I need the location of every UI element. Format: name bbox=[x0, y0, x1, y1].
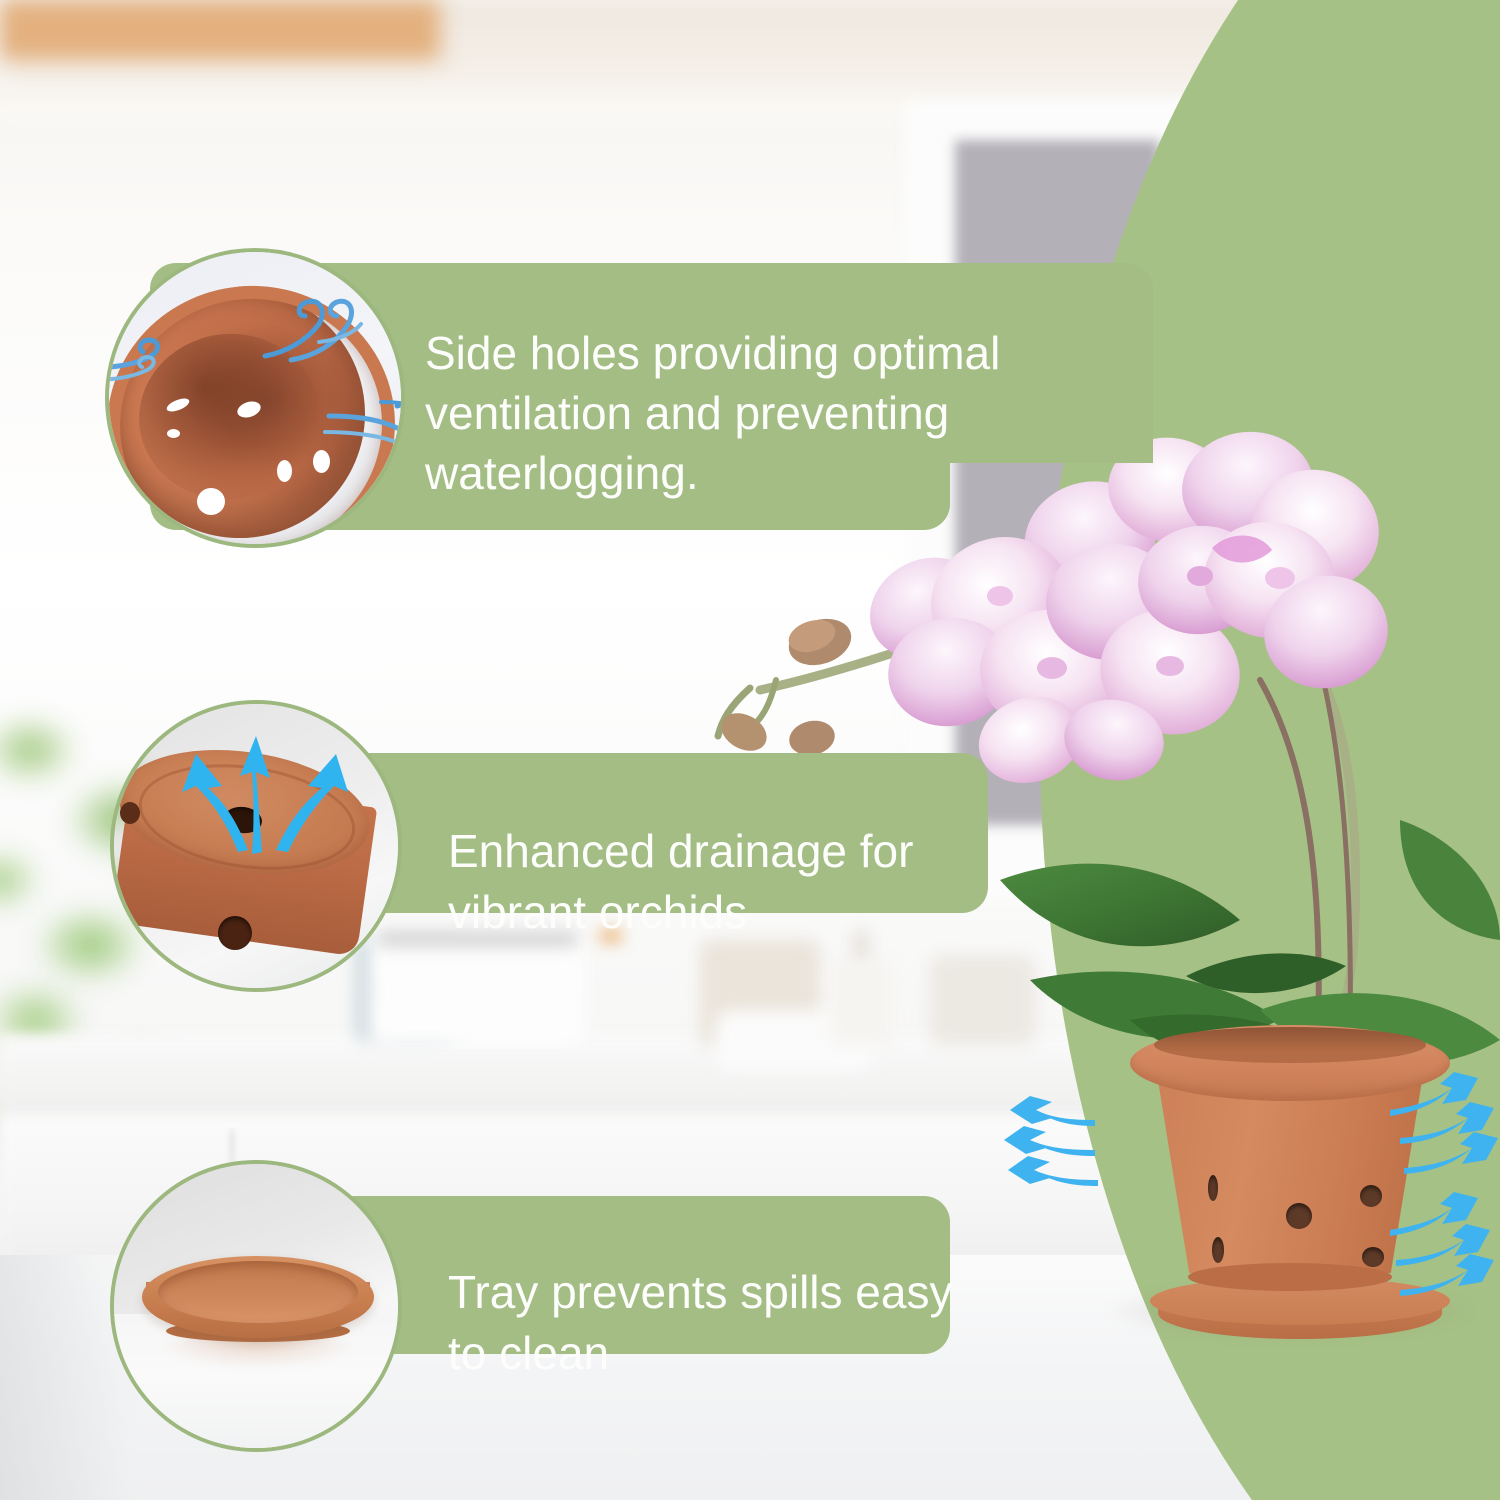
side-hole bbox=[218, 916, 252, 950]
wood-board bbox=[0, 0, 440, 60]
side-hole bbox=[197, 488, 225, 515]
side-hole bbox=[167, 429, 180, 438]
air-swirl-icon bbox=[105, 334, 205, 396]
side-hole bbox=[277, 460, 292, 482]
air-swirl-icon bbox=[261, 294, 379, 366]
callout-circle-tray bbox=[110, 1160, 402, 1452]
side-hole bbox=[120, 802, 140, 824]
infographic-canvas: Side holes providing optimal ventilation… bbox=[0, 0, 1500, 1500]
callout-circle-ventilation bbox=[105, 248, 405, 548]
saucer-interior bbox=[158, 1261, 358, 1323]
feature-text-drainage: Enhanced drainage for vibrant orchids bbox=[448, 821, 988, 943]
callout-circle-drainage bbox=[110, 700, 402, 992]
up-arrows-icon bbox=[152, 720, 372, 860]
feature-text-tray: Tray prevents spills easy to clean bbox=[448, 1262, 968, 1384]
feature-text-ventilation: Side holes providing optimal ventilation… bbox=[425, 324, 1125, 503]
appliance-toaster bbox=[370, 930, 585, 1045]
air-swirl-icon bbox=[323, 394, 405, 456]
